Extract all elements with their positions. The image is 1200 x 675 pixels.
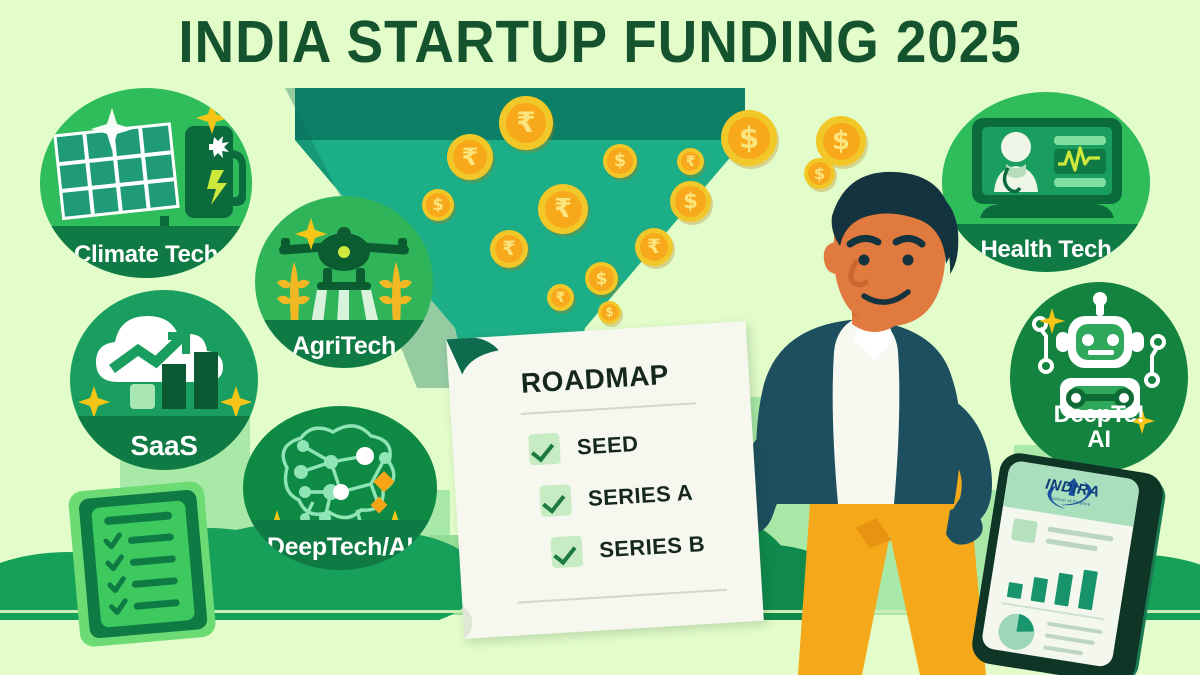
roadmap-item-label: SERIES A [587, 479, 693, 511]
badge-label-climate-tech: Climate Tech [40, 242, 252, 267]
phone-bar-chart [1003, 553, 1113, 613]
page-title: INDIA STARTUP FUNDING 2025 [42, 8, 1158, 76]
phone-bar [1078, 570, 1098, 610]
roadmap-item-label: SEED [576, 430, 639, 460]
badge-saas[interactable]: SaaS [70, 290, 258, 470]
badge-label-agritech: AgriTech [255, 333, 433, 359]
coin-dollar: $ [603, 144, 637, 178]
phone-text-line [1045, 633, 1095, 645]
checkbox-series-a[interactable] [539, 484, 572, 517]
coin-dollar: $ [598, 301, 621, 324]
roadmap-item-label: SERIES B [598, 531, 705, 563]
badge-label-saas: SaaS [70, 431, 258, 460]
badge-deeptech-ai[interactable]: DeepTech/AI [243, 406, 437, 570]
coin-rupee: ₹ [499, 96, 553, 150]
coin-rupee: ₹ [447, 134, 493, 180]
coin-rupee: ₹ [547, 284, 574, 311]
roadmap-document[interactable]: ROADMAP SEED SERIES A SERIES B [446, 321, 764, 639]
phone-bar [1054, 573, 1073, 606]
badge-climate-tech[interactable]: Climate Tech [40, 88, 252, 278]
analytics-phone[interactable]: INDIRA School of Finance [969, 450, 1165, 675]
phone-thumb [1011, 518, 1038, 543]
checkbox-seed[interactable] [528, 433, 561, 466]
phone-text-line [1043, 645, 1083, 655]
phone-text-line [1047, 622, 1103, 635]
badge-agritech[interactable]: AgriTech [255, 196, 433, 368]
checklist-clipboard [61, 472, 225, 654]
coin-rupee: ₹ [490, 230, 528, 268]
phone-bar [1031, 577, 1049, 603]
phone-bar [1007, 582, 1023, 599]
poster-canvas: INDIA STARTUP FUNDING 2025 ₹$₹$$₹$₹$$₹₹$… [0, 0, 1200, 675]
phone-text-line [1046, 538, 1098, 551]
checkbox-series-b[interactable] [550, 536, 583, 569]
coin-dollar: $ [585, 262, 618, 295]
phone-pie-chart [994, 610, 1040, 656]
coin-rupee: ₹ [538, 184, 588, 234]
clipboard-icon [61, 472, 225, 654]
badge-label-deeptech-ai: DeepTech/AI [243, 534, 437, 560]
badge-label-ai: AI [1087, 426, 1110, 453]
